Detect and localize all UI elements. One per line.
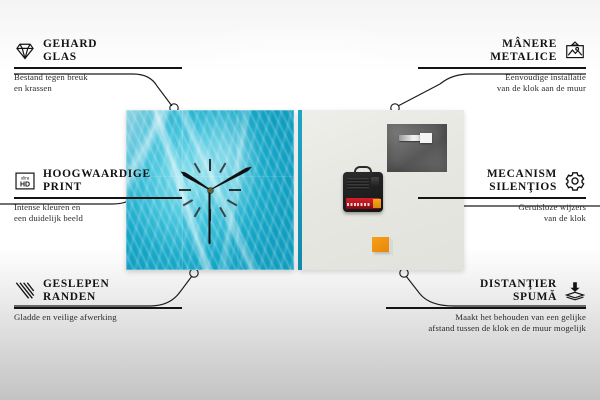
battery-label <box>347 203 371 206</box>
callout-divider <box>14 307 182 308</box>
callout-desc-line2: een duidelijk beeld <box>14 213 182 224</box>
callout-title: DISTANŢIER SPUMĂ <box>480 278 557 304</box>
clock-mechanism <box>343 172 383 212</box>
foam-spacer <box>372 237 389 252</box>
svg-text:ultra: ultra <box>21 176 30 181</box>
callout-header: MECANISM SILENŢIOS <box>418 168 586 194</box>
callout-title-line1: GEHARD <box>43 38 97 51</box>
mechanism-knob <box>371 177 379 186</box>
callout-high-quality-print: ultra HD HOOGWAARDIGE PRINT Intense kleu… <box>14 168 182 223</box>
callout-desc-line2: van de klok aan de muur <box>418 83 586 94</box>
clock-center-cap <box>208 188 213 193</box>
connector-dot-edges <box>190 269 198 277</box>
callout-title: GEHARD GLAS <box>43 38 97 64</box>
callout-header: ultra HD HOOGWAARDIGE PRINT <box>14 168 182 194</box>
hanger-slot-highlight <box>420 133 432 143</box>
callout-title: HOOGWAARDIGE PRINT <box>43 168 151 194</box>
callout-title-line2: METALICE <box>490 51 557 64</box>
callout-title-line1: MECANISM <box>487 168 557 181</box>
ground-edges-icon <box>14 280 36 302</box>
callout-title-line2: SILENŢIOS <box>487 181 557 194</box>
callout-foam-spacer: DISTANŢIER SPUMĂ Maakt het behouden van … <box>386 278 586 333</box>
picture-frame-icon <box>564 40 586 62</box>
callout-title: MECANISM SILENŢIOS <box>487 168 557 194</box>
svg-text:HD: HD <box>20 182 30 189</box>
callout-divider <box>418 67 586 68</box>
callout-title: GESLEPEN RANDEN <box>43 278 109 304</box>
callout-tempered-glass: GEHARD GLAS Bestand tegen breuk en krass… <box>14 38 182 93</box>
callout-divider <box>418 197 586 198</box>
callout-desc-line2: afstand tussen de klok en de muur mogeli… <box>386 323 586 334</box>
mechanism-grill <box>347 178 369 190</box>
connector-dot-spacer <box>400 269 408 277</box>
callout-title-line2: RANDEN <box>43 291 109 304</box>
callout-title-line1: GESLEPEN <box>43 278 109 291</box>
battery <box>346 198 380 209</box>
callout-desc-line1: Intense kleuren en <box>14 202 182 213</box>
callout-desc-line1: Geruisloze wijzers <box>418 202 586 213</box>
glass-edge <box>298 110 302 270</box>
callout-metal-handles: MÂNERE METALICE Eenvoudige installatie v… <box>418 38 586 93</box>
callout-title-line2: SPUMĂ <box>480 291 557 304</box>
callout-header: GEHARD GLAS <box>14 38 182 64</box>
callout-desc-line1: Gladde en veilige afwerking <box>14 312 182 323</box>
metal-hanger <box>387 124 447 172</box>
callout-desc-line1: Maakt het behouden van een gelijke <box>386 312 586 323</box>
ultra-hd-icon: ultra HD <box>14 170 36 192</box>
battery-positive-terminal <box>373 199 381 208</box>
gear-icon <box>564 170 586 192</box>
callout-desc-line2: van de klok <box>418 213 586 224</box>
callout-title-line1: HOOGWAARDIGE <box>43 168 151 181</box>
callout-divider <box>386 307 586 308</box>
callout-header: DISTANŢIER SPUMĂ <box>386 278 586 304</box>
mechanism-loop <box>354 166 372 176</box>
infographic-canvas: GEHARD GLAS Bestand tegen breuk en krass… <box>0 0 600 400</box>
callout-silent-mechanism: MECANISM SILENŢIOS Geruisloze wijzers va… <box>418 168 586 223</box>
callout-title-line1: DISTANŢIER <box>480 278 557 291</box>
callout-header: GESLEPEN RANDEN <box>14 278 182 304</box>
diamond-icon <box>14 40 36 62</box>
callout-title-line2: GLAS <box>43 51 97 64</box>
callout-ground-edges: GESLEPEN RANDEN Gladde en veilige afwerk… <box>14 278 182 323</box>
callout-header: MÂNERE METALICE <box>418 38 586 64</box>
spacer-stack-icon <box>564 280 586 302</box>
callout-divider <box>14 67 182 68</box>
callout-title: MÂNERE METALICE <box>490 38 557 64</box>
foam-spacer-side <box>389 237 393 255</box>
callout-title-line2: PRINT <box>43 181 151 194</box>
callout-divider <box>14 197 182 198</box>
callout-desc-line1: Bestand tegen breuk <box>14 72 182 83</box>
callout-desc-line2: en krassen <box>14 83 182 94</box>
callout-desc-line1: Eenvoudige installatie <box>418 72 586 83</box>
callout-title-line1: MÂNERE <box>490 38 557 51</box>
